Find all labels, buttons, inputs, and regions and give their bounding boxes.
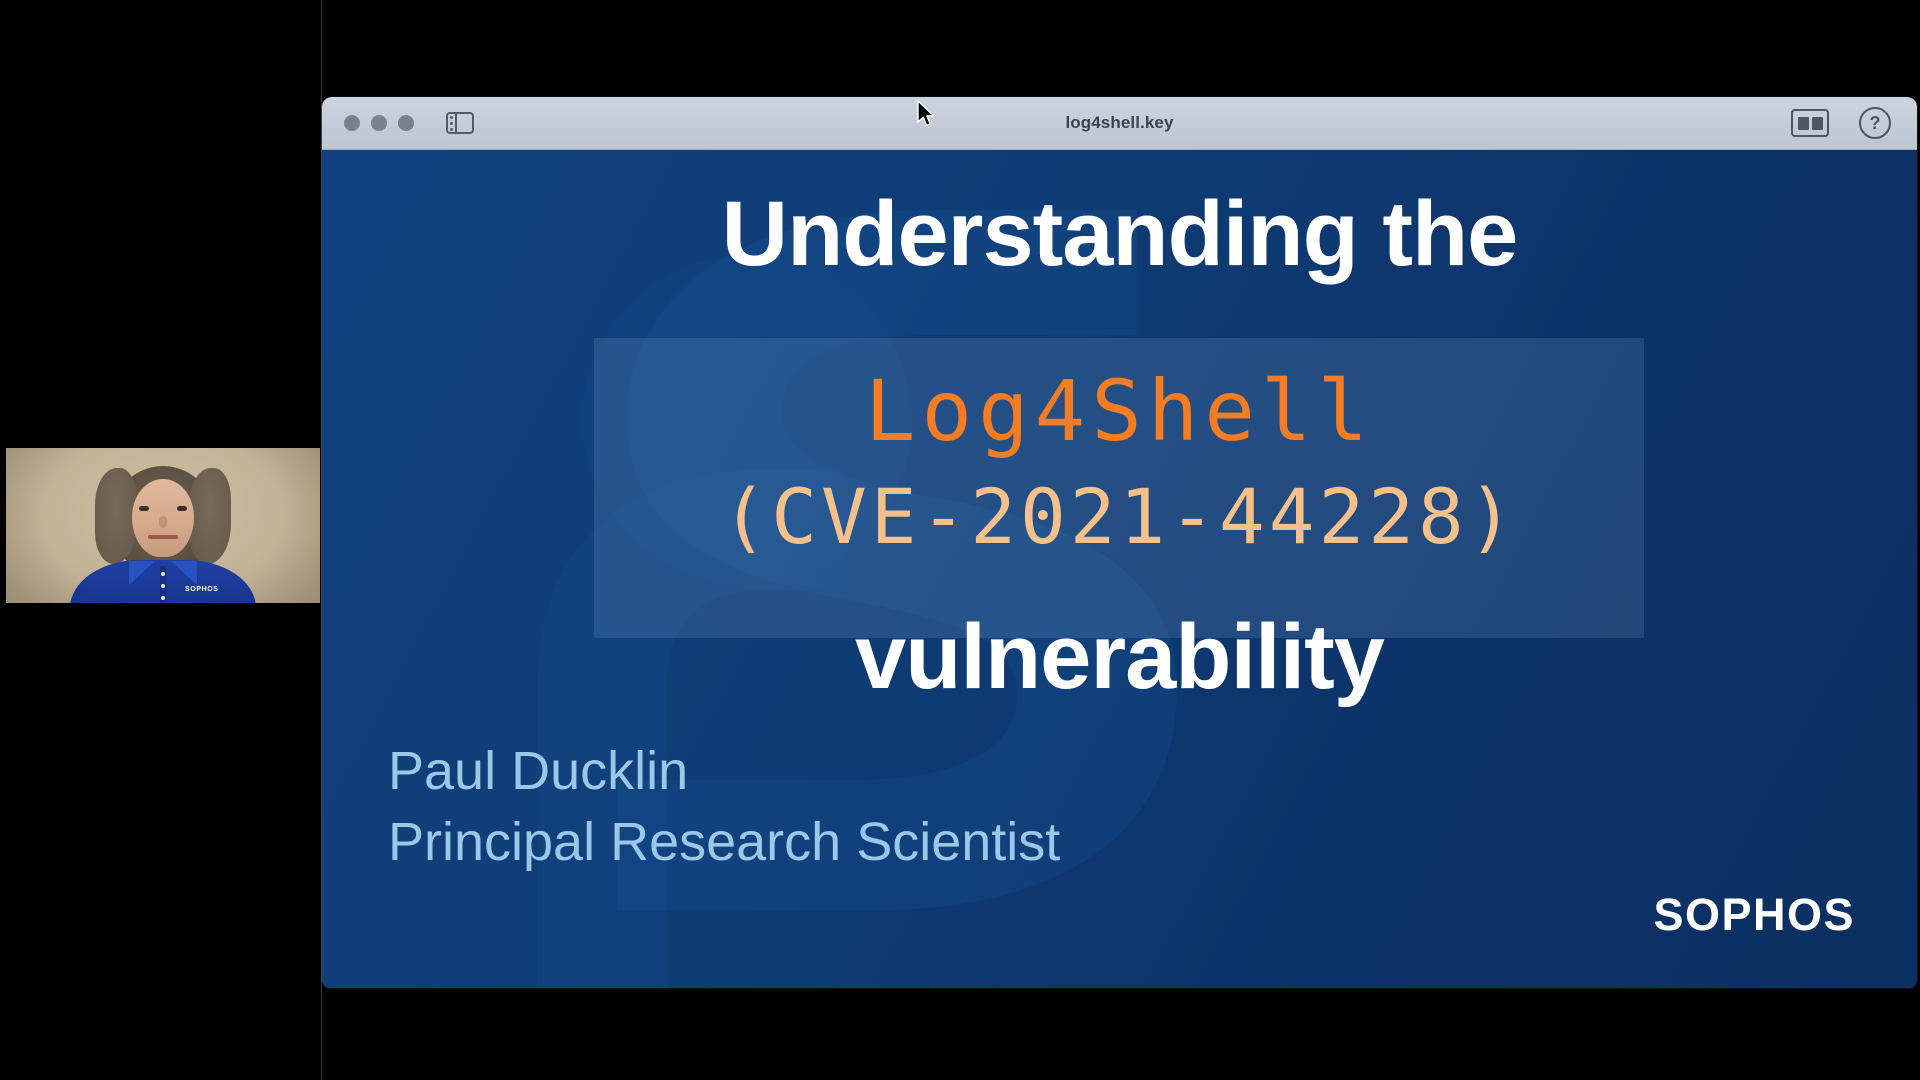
slide-canvas[interactable]: Understanding the Log4Shell (CVE-2021-44… xyxy=(322,150,1917,988)
sidebar-icon-dot xyxy=(450,122,453,125)
traffic-light-group xyxy=(344,115,414,131)
titlebar-right-group: ? xyxy=(1791,107,1891,139)
sophos-logo: SOPHOS xyxy=(1653,889,1855,941)
slide-code-log4shell: Log4Shell xyxy=(322,362,1917,460)
video-call-panel: SOPHOS xyxy=(0,0,321,1080)
keynote-window: log4shell.key ? Understanding the Log4Sh… xyxy=(322,97,1917,988)
sidebar-icon-dot xyxy=(450,116,453,119)
window-title: log4shell.key xyxy=(322,113,1917,133)
close-button[interactable] xyxy=(344,115,360,131)
webcam-vignette xyxy=(6,448,320,603)
display-pane-right xyxy=(1812,117,1823,130)
sidebar-icon-dot xyxy=(450,128,453,131)
sidebar-toggle-icon[interactable] xyxy=(446,112,474,134)
zoom-button[interactable] xyxy=(398,115,414,131)
minimize-button[interactable] xyxy=(371,115,387,131)
slide-presenter-name: Paul Ducklin xyxy=(388,740,688,802)
presenter-display-icon[interactable] xyxy=(1791,109,1829,137)
participant-video-tile[interactable]: SOPHOS xyxy=(6,448,320,603)
display-pane-left xyxy=(1798,117,1809,130)
slide-title-line-2: vulnerability xyxy=(322,605,1917,710)
sidebar-icon-divider xyxy=(455,112,457,134)
slide-title-line-1: Understanding the xyxy=(322,182,1917,287)
help-icon[interactable]: ? xyxy=(1859,107,1891,139)
window-titlebar[interactable]: log4shell.key ? xyxy=(322,97,1917,150)
slide-code-cve: (CVE-2021-44228) xyxy=(322,472,1917,561)
screen-root: SOPHOS log4shell.key xyxy=(0,0,1920,1080)
slide-presenter-role: Principal Research Scientist xyxy=(388,811,1060,873)
